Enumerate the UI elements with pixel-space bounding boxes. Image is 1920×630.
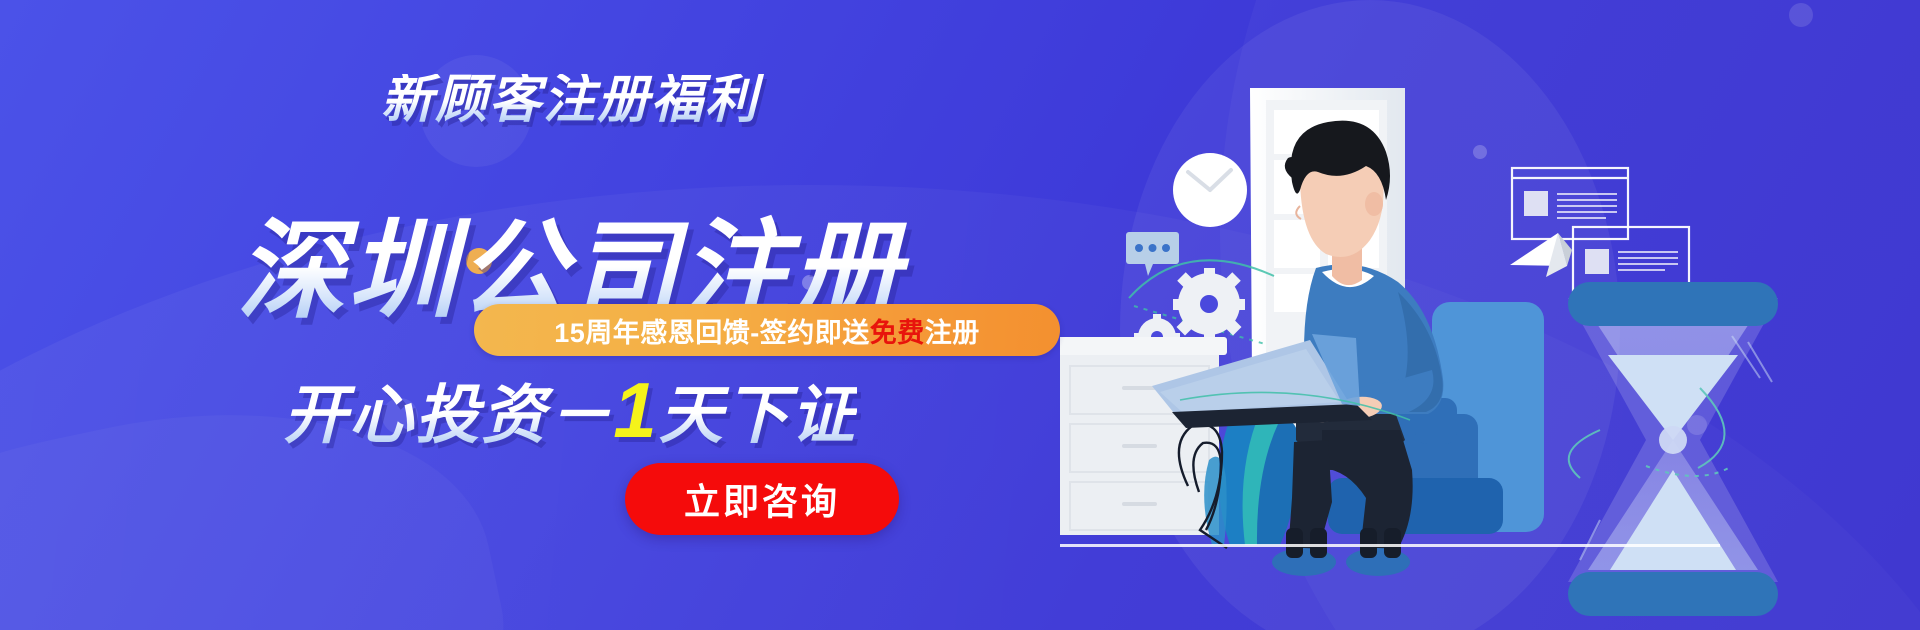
document-card-1-thumb [1524, 191, 1548, 216]
subline-left: 开心投资－ [283, 379, 613, 451]
promo-pill-prefix: 15周年感恩回馈-签约即送 [554, 318, 870, 348]
copy-block: 新顾客注册福利 深圳公司注册 15周年感恩回馈-签约即送免费注册 开心投资－1天… [0, 0, 1160, 630]
consult-now-button[interactable]: 立即咨询 [625, 463, 899, 535]
hourglass-cap-bottom [1568, 572, 1778, 616]
subline-right: 天下证 [659, 379, 857, 451]
consult-now-button-label: 立即咨询 [684, 473, 840, 525]
promo-pill-highlight: 免费 [870, 318, 925, 348]
hero-illustration [1060, 0, 1920, 630]
subline-text: 开心投资－1天下证 [0, 368, 1140, 454]
document-card-2-lines [1618, 252, 1678, 270]
eyebrow-text: 新顾客注册福利 [0, 74, 1140, 126]
subline-number: 1 [613, 366, 658, 454]
promo-pill-suffix: 注册 [925, 318, 980, 348]
promo-pill-text: 15周年感恩回馈-签约即送免费注册 [554, 311, 980, 350]
promo-pill: 15周年感恩回馈-签约即送免费注册 [474, 304, 1060, 356]
hourglass-cap-top [1568, 282, 1778, 326]
document-card-2-thumb [1585, 249, 1609, 274]
promo-banner: 新顾客注册福利 深圳公司注册 15周年感恩回馈-签约即送免费注册 开心投资－1天… [0, 0, 1920, 630]
wall-clock-icon [1173, 153, 1247, 227]
